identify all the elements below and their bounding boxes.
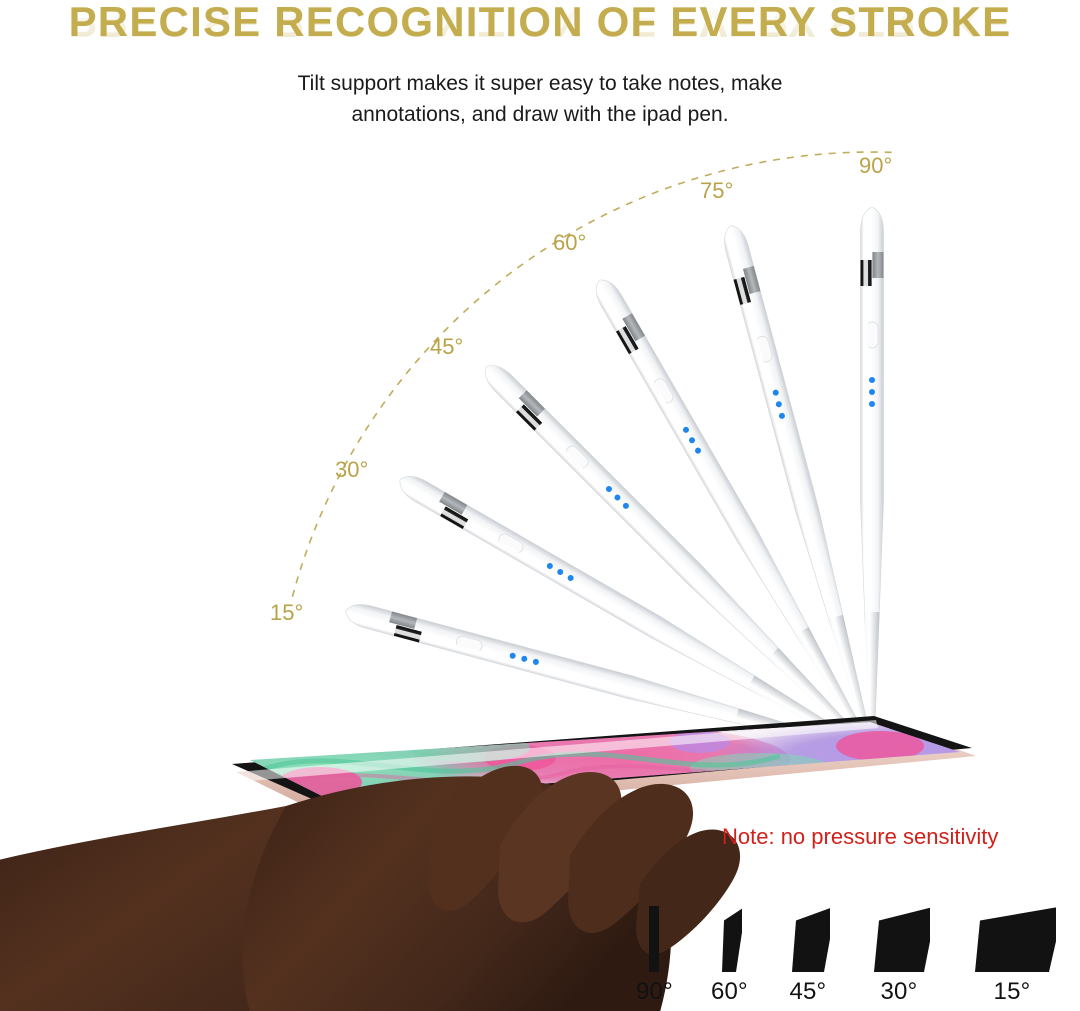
angle-label-60: 60° [553, 230, 586, 256]
stroke-sample-30: 30° [868, 906, 930, 1006]
stroke-wedge-icon [647, 906, 661, 972]
stroke-caption: 45° [789, 978, 826, 1006]
stroke-caption: 15° [994, 978, 1031, 1006]
angle-label-45: 45° [430, 334, 463, 360]
stroke-sample-45: 45° [786, 906, 830, 1006]
stroke-width-legend: 90°60°45°30°15° [636, 896, 1056, 1006]
diagram-canvas [0, 0, 1080, 1011]
stroke-caption: 90° [636, 978, 673, 1006]
stroke-wedge-icon [716, 906, 742, 972]
stroke-wedge-icon [868, 906, 930, 972]
angle-label-15: 15° [270, 600, 303, 626]
stroke-caption: 30° [881, 978, 918, 1006]
stroke-sample-15: 15° [968, 906, 1056, 1006]
angle-label-30: 30° [335, 457, 368, 483]
angle-label-90: 90° [859, 153, 892, 179]
stroke-sample-60: 60° [711, 906, 748, 1006]
product-feature-image: PRECISE RECOGNITION OF EVERY STROKE PREC… [0, 0, 1080, 1011]
stroke-wedge-icon [968, 906, 1056, 972]
stroke-wedge-icon [786, 906, 830, 972]
stroke-sample-90: 90° [636, 906, 673, 1006]
angle-label-75: 75° [700, 178, 733, 204]
stylus-90 [861, 207, 884, 752]
tilt-angle-diagram: 15° 30° 45° 60° 75° 90° [0, 0, 1080, 1011]
stylus-fan [343, 207, 884, 763]
pressure-sensitivity-note: Note: no pressure sensitivity [722, 824, 998, 850]
stroke-caption: 60° [711, 978, 748, 1006]
